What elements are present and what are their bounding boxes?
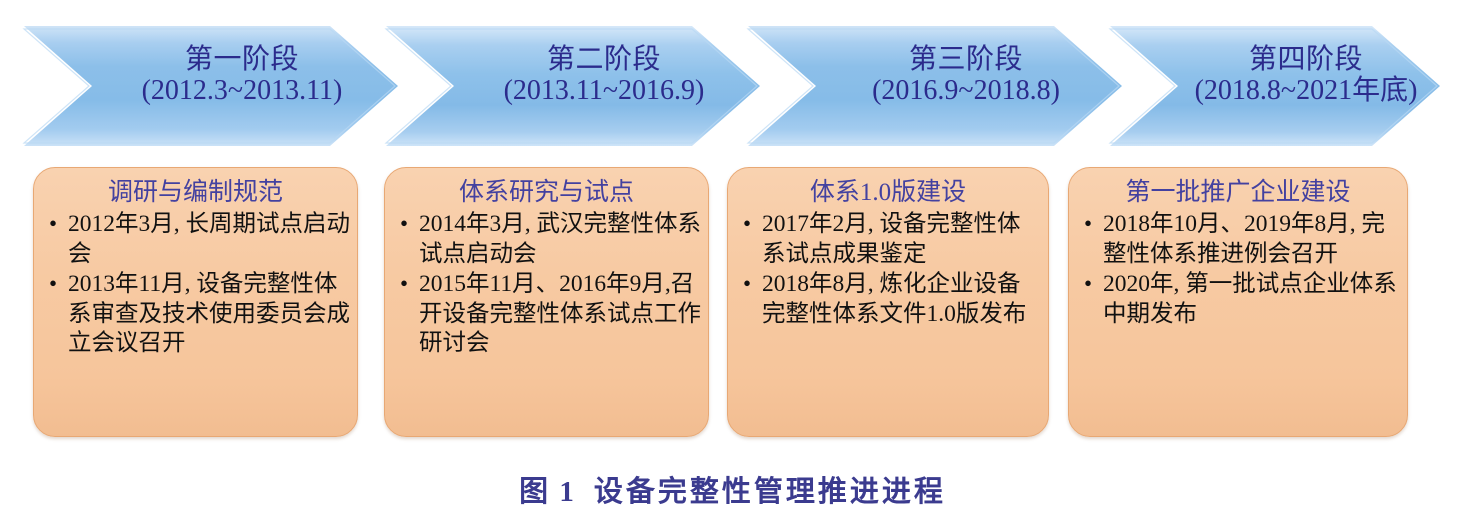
list-item: •2013年11月, 设备完整性体系审查及技术使用委员会成立会议召开 xyxy=(68,270,351,359)
arrow-shape-phase-2 xyxy=(386,26,760,146)
bullet-icon: • xyxy=(1084,210,1092,239)
list-item-text: 2013年11月, 设备完整性体系审查及技术使用委员会成立会议召开 xyxy=(68,271,350,356)
phase-box-list-4: •2018年10月、2019年8月, 完整性体系推进例会召开 •2020年, 第… xyxy=(1069,210,1407,329)
bullet-icon: • xyxy=(49,270,57,299)
phase-box-list-2: •2014年3月, 武汉完整性体系试点启动会 •2015年11月、2016年9月… xyxy=(385,210,708,359)
list-item: •2012年3月, 长周期试点启动会 xyxy=(68,210,351,269)
phase-box-2: 体系研究与试点 •2014年3月, 武汉完整性体系试点启动会 •2015年11月… xyxy=(384,167,709,437)
bullet-icon: • xyxy=(400,270,408,299)
bullet-icon: • xyxy=(743,270,751,299)
figure-caption: 图 1设备完整性管理推进进程 xyxy=(0,468,1465,510)
list-item-text: 2018年8月, 炼化企业设备完整性体系文件1.0版发布 xyxy=(762,271,1026,327)
list-item-text: 2018年10月、2019年8月, 完整性体系推进例会召开 xyxy=(1103,211,1385,267)
phase-box-list-1: •2012年3月, 长周期试点启动会 •2013年11月, 设备完整性体系审查及… xyxy=(34,210,357,359)
bullet-icon: • xyxy=(743,210,751,239)
arrow-shape-phase-1 xyxy=(24,26,398,146)
phase-box-3: 体系1.0版建设 •2017年2月, 设备完整性体系试点成果鉴定 •2018年8… xyxy=(727,167,1049,437)
list-item-text: 2014年3月, 武汉完整性体系试点启动会 xyxy=(419,211,701,267)
list-item: •2018年8月, 炼化企业设备完整性体系文件1.0版发布 xyxy=(762,270,1042,329)
figure-caption-number: 图 1 xyxy=(519,476,576,508)
phase-arrow-graphics xyxy=(0,22,1465,150)
phase-box-title-1: 调研与编制规范 xyxy=(34,178,357,208)
phase-arrow-band: 第一阶段 (2012.3~2013.11) 第二阶段 (2013.11~2016… xyxy=(0,22,1465,150)
figure-caption-text: 设备完整性管理推进进程 xyxy=(594,476,946,508)
list-item: •2014年3月, 武汉完整性体系试点启动会 xyxy=(419,210,702,269)
list-item-text: 2012年3月, 长周期试点启动会 xyxy=(68,211,350,267)
figure-container: 第一阶段 (2012.3~2013.11) 第二阶段 (2013.11~2016… xyxy=(0,0,1465,532)
list-item-text: 2017年2月, 设备完整性体系试点成果鉴定 xyxy=(762,211,1021,267)
list-item: •2018年10月、2019年8月, 完整性体系推进例会召开 xyxy=(1103,210,1401,269)
list-item-text: 2020年, 第一批试点企业体系中期发布 xyxy=(1103,271,1397,327)
phase-box-1: 调研与编制规范 •2012年3月, 长周期试点启动会 •2013年11月, 设备… xyxy=(33,167,358,437)
list-item: •2020年, 第一批试点企业体系中期发布 xyxy=(1103,270,1401,329)
phase-box-title-3: 体系1.0版建设 xyxy=(728,178,1048,208)
bullet-icon: • xyxy=(49,210,57,239)
bullet-icon: • xyxy=(1084,270,1092,299)
phase-box-4: 第一批推广企业建设 •2018年10月、2019年8月, 完整性体系推进例会召开… xyxy=(1068,167,1408,437)
phase-box-list-3: •2017年2月, 设备完整性体系试点成果鉴定 •2018年8月, 炼化企业设备… xyxy=(728,210,1048,329)
list-item: •2017年2月, 设备完整性体系试点成果鉴定 xyxy=(762,210,1042,269)
list-item-text: 2015年11月、2016年9月,召开设备完整性体系试点工作研讨会 xyxy=(419,271,701,356)
arrow-shape-phase-3 xyxy=(748,26,1122,146)
bullet-icon: • xyxy=(400,210,408,239)
phase-box-title-4: 第一批推广企业建设 xyxy=(1069,178,1407,208)
arrow-shape-phase-4 xyxy=(1110,26,1440,146)
phase-box-title-2: 体系研究与试点 xyxy=(385,178,708,208)
list-item: •2015年11月、2016年9月,召开设备完整性体系试点工作研讨会 xyxy=(419,270,702,359)
